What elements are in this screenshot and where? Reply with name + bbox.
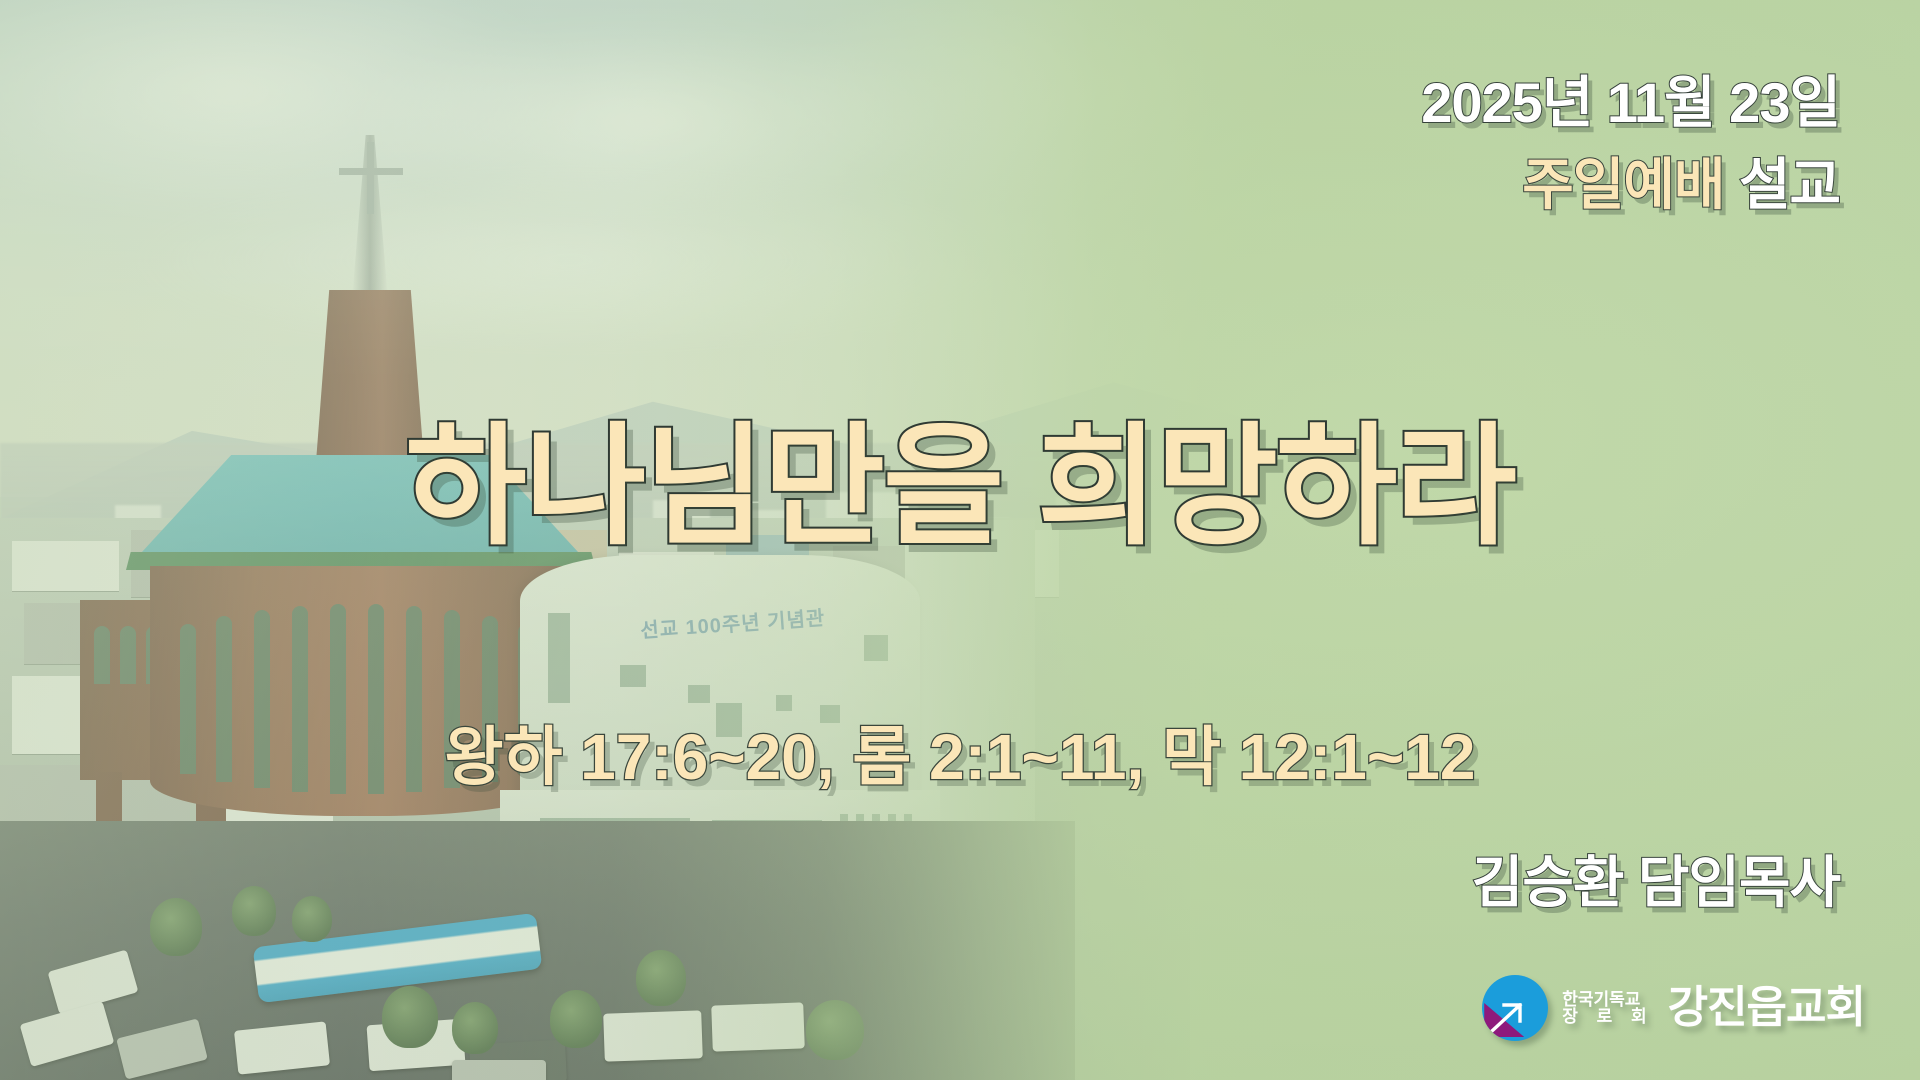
slide-canvas: 선교 100주년 기념관 xyxy=(0,0,1920,1080)
church-name: 강진읍교회 xyxy=(1668,986,1865,1030)
service-type-primary: 주일예배 xyxy=(1522,153,1724,216)
service-type-secondary: 설교 xyxy=(1724,153,1840,216)
preacher-name: 김승환 담임목사 xyxy=(1472,838,1840,919)
scripture-reference: 왕하 17:6~20, 롬 2:1~11, 막 12:1~12 xyxy=(0,706,1920,798)
logo-arrow-icon xyxy=(1490,1003,1528,1033)
text-layer: 2025년 11월 23일 주일예배 설교 하나님만을 희망하라 왕하 17:6… xyxy=(0,0,1920,1080)
denomination-line-1: 한국기독교 xyxy=(1562,991,1653,1008)
church-logo: 한국기독교 장 로 회 강진읍교회 xyxy=(1482,975,1865,1041)
service-type: 주일예배 설교 xyxy=(1522,140,1840,221)
denomination-name: 한국기독교 장 로 회 xyxy=(1562,991,1653,1026)
sermon-title: 하나님만을 희망하라 xyxy=(0,380,1920,571)
presbyterian-circle-arrow-mark-icon xyxy=(1482,975,1548,1041)
service-date: 2025년 11월 23일 xyxy=(1421,58,1840,139)
denomination-line-2: 장 로 회 xyxy=(1562,1008,1653,1025)
